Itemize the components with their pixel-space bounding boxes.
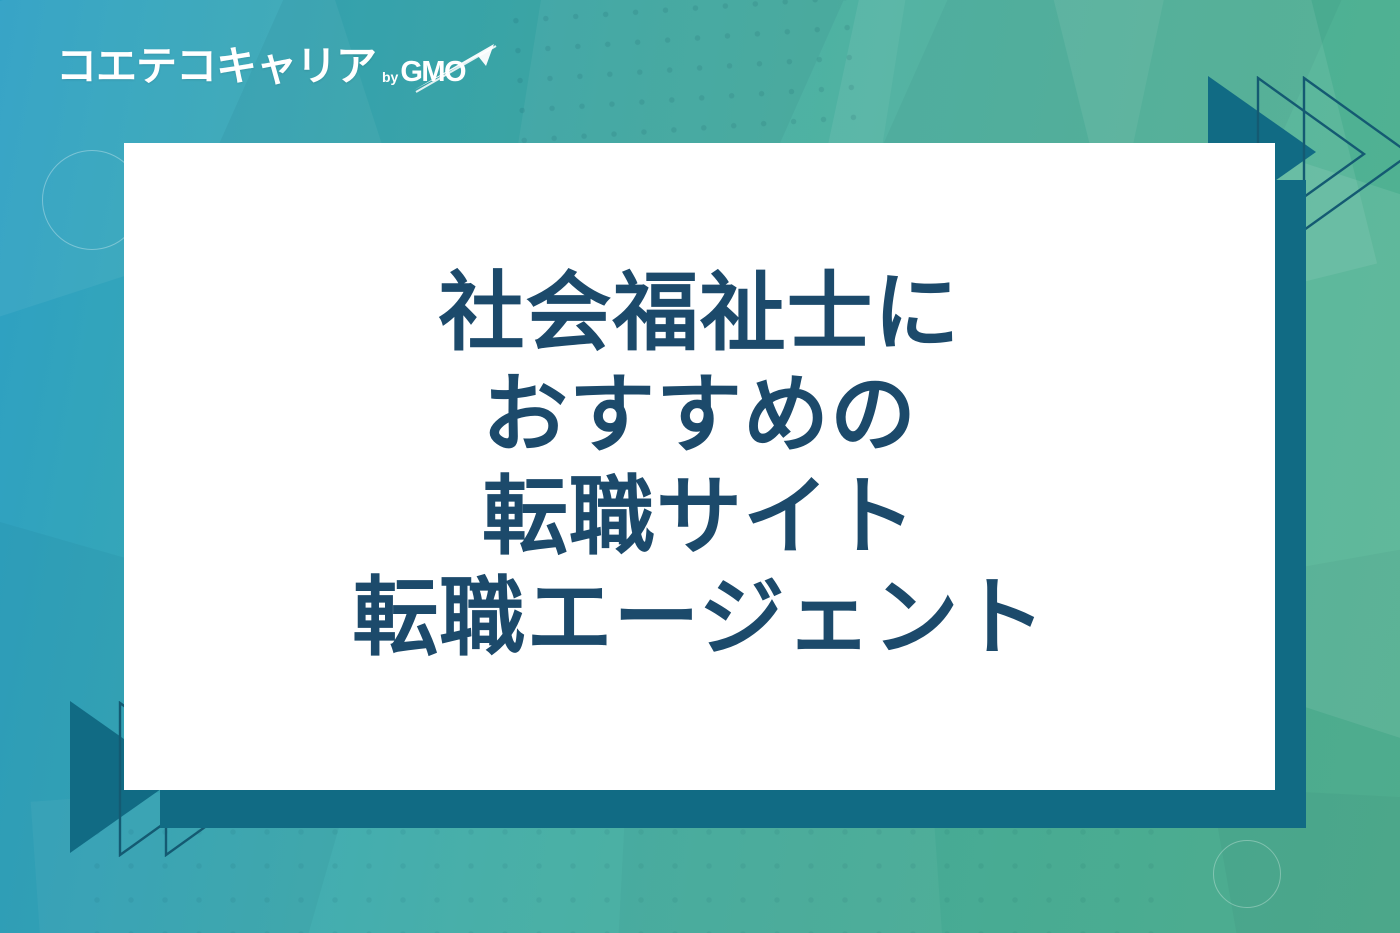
brand-logo[interactable]: コエテコキャリア by GMO: [56, 46, 465, 87]
arrow-up-right-swoosh-icon: [408, 40, 504, 101]
brand-by-label: by: [382, 70, 398, 84]
play-triangle-outline-icon: [1302, 76, 1400, 232]
brand-logo-text: コエテコキャリア: [56, 46, 376, 87]
title-line-1: 社会福祉士に: [439, 264, 961, 364]
circle-outline-bottom-right: [1213, 840, 1281, 908]
page-title: 社会福祉士に おすすめの 転職サイト 転職エージェント: [124, 143, 1275, 790]
title-line-3: 転職サイト: [482, 468, 917, 568]
title-line-4: 転職エージェント: [352, 569, 1046, 669]
dot-grid-texture-top: [500, 0, 870, 166]
title-line-2: おすすめの: [482, 366, 917, 466]
